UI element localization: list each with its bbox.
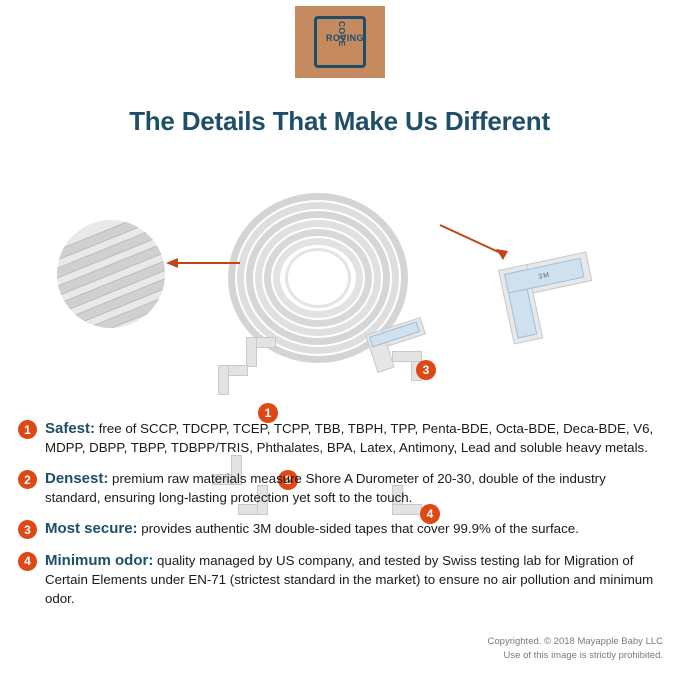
list-item-body: free of SCCP, TDCPP, TCEP, TCPP, TBB, TB…: [45, 421, 653, 455]
list-item-number: 4: [18, 552, 37, 571]
list-item-body: premium raw materials measure Shore A Du…: [45, 471, 606, 505]
corner-guard-tape-closeup: 3M: [498, 251, 602, 344]
list-item: 2 Densest: premium raw materials measure…: [18, 468, 663, 508]
list-item-number: 3: [18, 520, 37, 539]
callout-badge-3: 3: [416, 360, 436, 380]
list-item: 1 Safest: free of SCCP, TDCPP, TCEP, TCP…: [18, 418, 663, 458]
copyright-line-1: Copyrighted. © 2018 Mayapple Baby LLC: [488, 635, 663, 649]
copyright-notice: Copyrighted. © 2018 Mayapple Baby LLC Us…: [488, 635, 663, 664]
list-item-text: Most secure: provides authentic 3M doubl…: [45, 518, 579, 539]
list-item-lead: Minimum odor:: [45, 552, 153, 569]
copyright-line-2: Use of this image is strictly prohibited…: [488, 649, 663, 663]
list-item-lead: Most secure:: [45, 520, 138, 537]
list-item-text: Safest: free of SCCP, TDCPP, TCEP, TCPP,…: [45, 418, 663, 458]
list-item-text: Densest: premium raw materials measure S…: [45, 468, 663, 508]
page-title: The Details That Make Us Different: [0, 106, 679, 137]
feature-list: 1 Safest: free of SCCP, TDCPP, TCEP, TCP…: [18, 418, 663, 619]
corner-guard: [246, 337, 276, 367]
list-item: 3 Most secure: provides authentic 3M dou…: [18, 518, 663, 539]
product-illustration: 3M 1 2 3 4: [0, 155, 679, 405]
list-item-number: 1: [18, 420, 37, 439]
foam-closeup-circle: [57, 220, 165, 328]
list-item-lead: Safest:: [45, 420, 95, 437]
logo-mark: ROVING COVE: [314, 16, 366, 68]
logo-word-cove: COVE: [337, 21, 347, 47]
list-item-lead: Densest:: [45, 470, 108, 487]
list-item-number: 2: [18, 470, 37, 489]
corner-guard: [218, 365, 248, 395]
brand-logo: ROVING COVE: [295, 6, 385, 78]
list-item: 4 Minimum odor: quality managed by US co…: [18, 550, 663, 609]
list-item-body: provides authentic 3M double-sided tapes…: [138, 521, 579, 536]
list-item-text: Minimum odor: quality managed by US comp…: [45, 550, 663, 609]
